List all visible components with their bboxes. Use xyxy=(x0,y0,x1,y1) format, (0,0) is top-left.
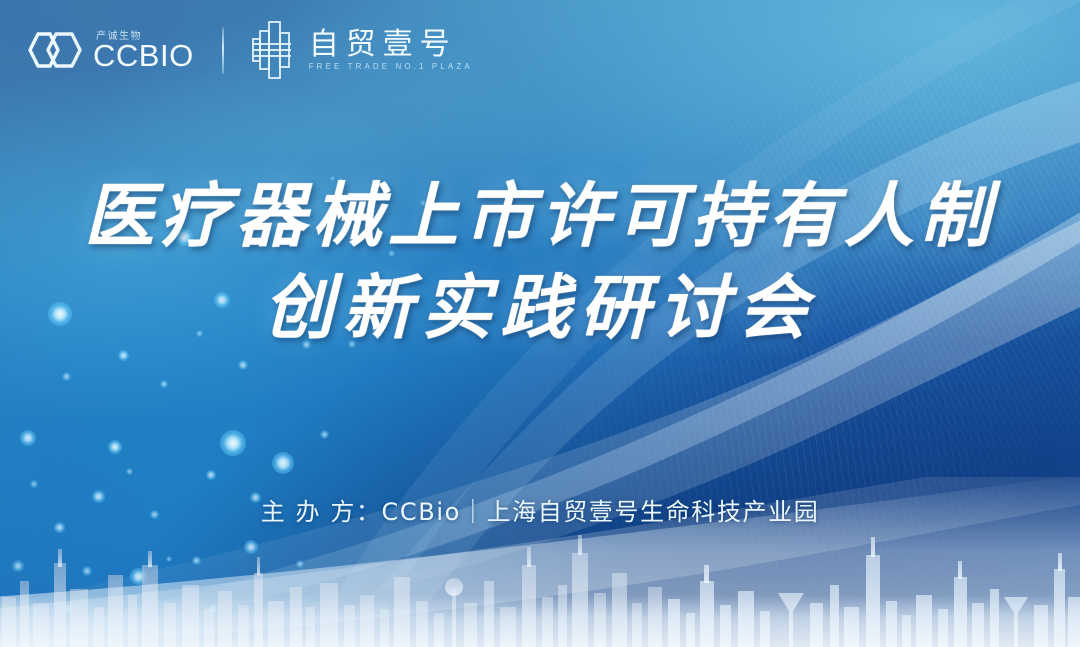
logo-divider xyxy=(222,27,224,74)
ccbio-wordmark: CCBIO xyxy=(93,40,194,71)
logo-header: 产诚生物 CCBIO 自贸壹号 FREE TRADE NO.1 PLAZA xyxy=(26,18,473,82)
free-trade-chinese-name: 自贸壹号 xyxy=(309,29,473,61)
tower-building-icon xyxy=(249,19,295,81)
free-trade-english-name: FREE TRADE NO.1 PLAZA xyxy=(309,62,473,71)
ccbio-logo[interactable]: 产诚生物 CCBIO xyxy=(26,29,194,71)
free-trade-plaza-logo[interactable]: 自贸壹号 FREE TRADE NO.1 PLAZA xyxy=(249,19,473,81)
ccbio-chinese-name: 产诚生物 xyxy=(96,27,142,42)
organizer-subtitle: 主 办 方：CCBio｜上海自贸壹号生命科技产业园 xyxy=(0,492,1080,527)
hexagon-cc-mark xyxy=(26,29,88,71)
title-line-1: 医疗器械上市许可持有人制 xyxy=(0,178,1080,254)
poster-title: 医疗器械上市许可持有人制 创新实践研讨会 xyxy=(0,178,1080,345)
title-line-2: 创新实践研讨会 xyxy=(0,270,1080,346)
event-poster: 产诚生物 CCBIO 自贸壹号 FREE TRADE NO.1 PLAZA xyxy=(0,0,1080,647)
